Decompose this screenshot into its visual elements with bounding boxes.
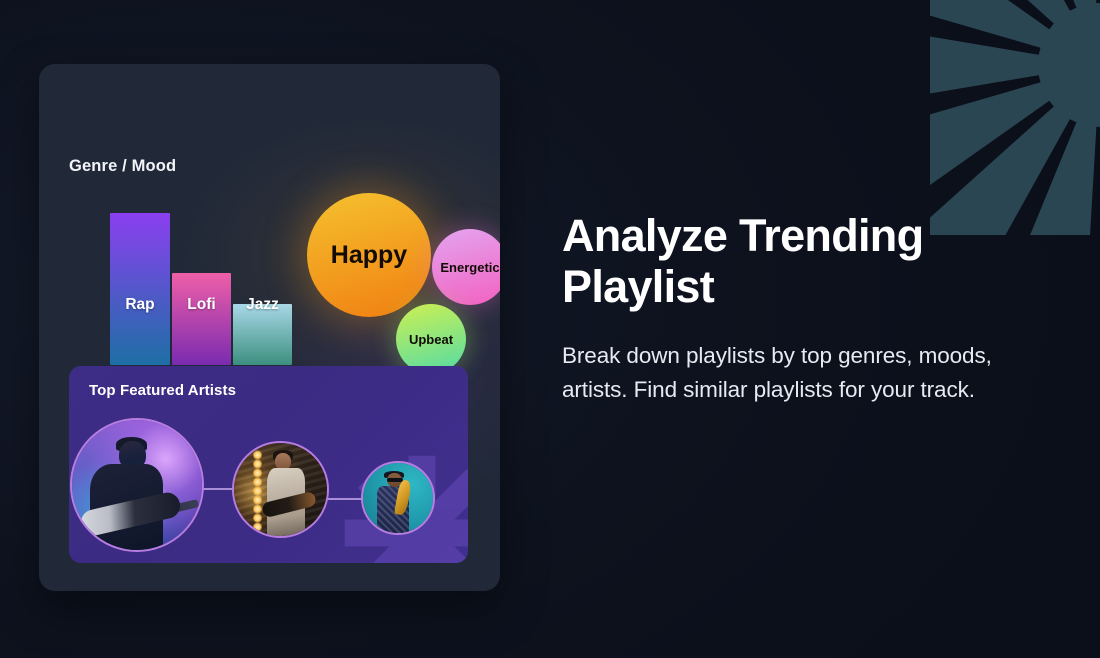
genre-mood-panel: Genre / Mood RapLofiJazz HappyEnergeticU… [39,64,500,591]
bar-label: Rap [110,296,170,314]
bubble-energetic[interactable]: Energetic [432,229,500,305]
bubble-happy[interactable]: Happy [307,193,431,317]
bar-jazz[interactable]: Jazz [233,304,292,365]
page-subtitle: Break down playlists by top genres, mood… [562,339,1048,407]
bar-label: Lofi [172,296,231,314]
hero-text-block: Analyze Trending Playlist Break down pla… [562,210,1048,407]
page-root: Genre / Mood RapLofiJazz HappyEnergeticU… [0,0,1100,658]
bubble-label: Happy [331,243,407,268]
sunburst-rays-icon [930,0,1100,235]
panel-title: Genre / Mood [69,157,176,176]
top-featured-artists-card[interactable]: Top Featured Artists [69,366,468,563]
bar-rap[interactable]: Rap [110,213,170,365]
artists-card-title: Top Featured Artists [89,382,236,399]
bubble-upbeat[interactable]: Upbeat [396,304,466,374]
page-title: Analyze Trending Playlist [562,210,1048,313]
artist-saxophonist[interactable] [361,461,435,535]
bubble-label: Upbeat [409,333,453,346]
bubble-label: Energetic [440,261,499,274]
artist-guitarist-purple[interactable] [70,418,204,552]
bar-lofi[interactable]: Lofi [172,273,231,365]
bar-label: Jazz [233,296,292,314]
connector-line [325,498,365,500]
artist-guitarist-lights[interactable] [232,441,329,538]
